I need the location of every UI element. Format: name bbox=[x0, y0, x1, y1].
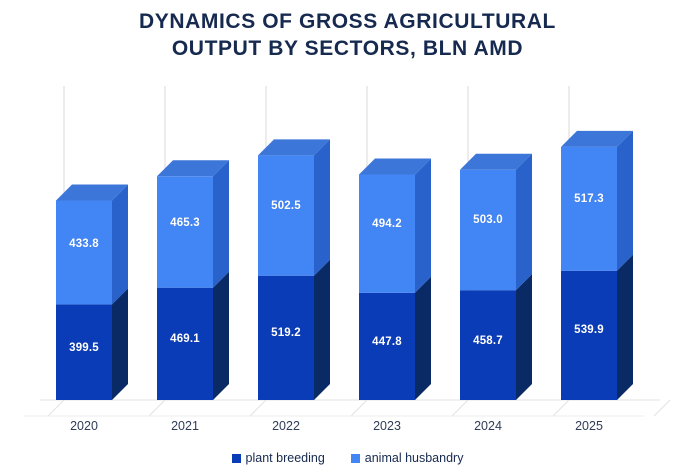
bar-side-plant-breeding bbox=[213, 272, 229, 400]
bar-group[interactable] bbox=[460, 154, 532, 400]
bar-group[interactable] bbox=[157, 160, 229, 400]
bar-value-animal-husbandry: 502.5 bbox=[271, 200, 301, 212]
bar-value-plant-breeding: 539.9 bbox=[574, 324, 604, 336]
category-label-2024: 2024 bbox=[474, 419, 502, 433]
bar-side-animal-husbandry bbox=[314, 139, 330, 275]
legend-swatch-icon bbox=[351, 454, 360, 463]
legend-label: plant breeding bbox=[246, 451, 325, 465]
chart-container: DYNAMICS OF GROSS AGRICULTURAL OUTPUT BY… bbox=[0, 0, 695, 476]
bar-value-plant-breeding: 519.2 bbox=[271, 327, 301, 339]
chart-legend: plant breedinganimal husbandry bbox=[0, 451, 695, 465]
bar-value-animal-husbandry: 517.3 bbox=[574, 193, 604, 205]
floor-depth-lines bbox=[24, 400, 670, 416]
bar-side-plant-breeding bbox=[112, 288, 128, 400]
bar-value-plant-breeding: 447.8 bbox=[372, 336, 402, 348]
bar-side-animal-husbandry bbox=[112, 185, 128, 305]
bar-front-animal-husbandry bbox=[359, 174, 415, 292]
bar-group[interactable] bbox=[258, 139, 330, 400]
bar-front-animal-husbandry bbox=[258, 155, 314, 275]
category-label-2022: 2022 bbox=[272, 419, 300, 433]
category-label-2020: 2020 bbox=[70, 419, 98, 433]
legend-swatch-icon bbox=[232, 454, 241, 463]
legend-item-0[interactable]: plant breeding bbox=[232, 451, 325, 465]
bar-side-animal-husbandry bbox=[516, 154, 532, 290]
bar-side-animal-husbandry bbox=[617, 131, 633, 271]
category-label-2021: 2021 bbox=[171, 419, 199, 433]
bar-value-animal-husbandry: 465.3 bbox=[170, 217, 200, 229]
bar-front-animal-husbandry bbox=[56, 201, 112, 305]
bar-value-plant-breeding: 469.1 bbox=[170, 333, 200, 345]
legend-item-1[interactable]: animal husbandry bbox=[351, 451, 464, 465]
bar-value-plant-breeding: 399.5 bbox=[69, 342, 99, 354]
legend-label: animal husbandry bbox=[365, 451, 464, 465]
category-label-2025: 2025 bbox=[575, 419, 603, 433]
bar-side-plant-breeding bbox=[415, 277, 431, 400]
bar-group[interactable] bbox=[359, 158, 431, 400]
bar-front-animal-husbandry bbox=[157, 176, 213, 287]
bar-value-animal-husbandry: 494.2 bbox=[372, 218, 402, 230]
bar-value-animal-husbandry: 503.0 bbox=[473, 214, 503, 226]
bar-front-animal-husbandry bbox=[460, 170, 516, 290]
bar-side-plant-breeding bbox=[314, 260, 330, 400]
bar-side-animal-husbandry bbox=[415, 158, 431, 292]
bar-side-animal-husbandry bbox=[213, 160, 229, 287]
bar-side-plant-breeding bbox=[516, 274, 532, 400]
bar-value-animal-husbandry: 433.8 bbox=[69, 238, 99, 250]
bar-value-plant-breeding: 458.7 bbox=[473, 335, 503, 347]
bar-side-plant-breeding bbox=[617, 255, 633, 400]
category-label-2023: 2023 bbox=[373, 419, 401, 433]
bar-front-animal-husbandry bbox=[561, 147, 617, 271]
chart-svg bbox=[0, 0, 695, 476]
plot-area bbox=[0, 0, 695, 476]
bar-group[interactable] bbox=[561, 131, 633, 400]
bar-group[interactable] bbox=[56, 185, 128, 400]
